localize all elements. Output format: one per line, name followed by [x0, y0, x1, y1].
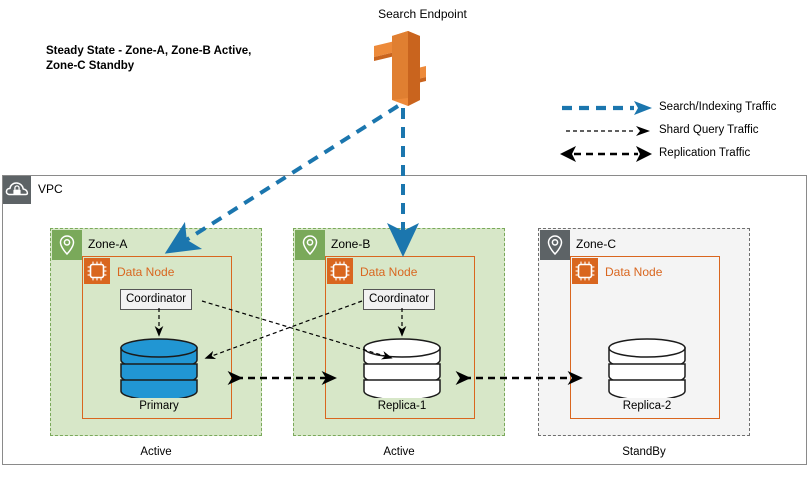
zone-a-location-pin-icon: [52, 230, 82, 260]
diagram-title: Steady State - Zone-A, Zone-B Active, Zo…: [46, 44, 346, 74]
zone-c-database-label: Replica-2: [587, 400, 707, 412]
zone-a-name: Zone-A: [88, 237, 127, 251]
zone-c-data-node-label: Data Node: [605, 265, 662, 279]
zone-b-location-pin-icon: [295, 230, 325, 260]
legend-swatch-replication-icon: [560, 143, 656, 166]
legend-swatch-shard-query-icon: [560, 120, 656, 143]
legend-label-shard-query: Shard Query Traffic: [659, 124, 759, 136]
zone-a-database-primary-icon: [116, 336, 202, 398]
search-endpoint-icon: [370, 28, 432, 108]
zone-a-chip-icon: [84, 258, 110, 284]
legend-item-shard-query: Shard Query Traffic: [560, 120, 810, 143]
zone-c-location-pin-icon: [540, 230, 570, 260]
zone-b-database-label: Replica-1: [342, 400, 462, 412]
zone-a-database-label: Primary: [99, 400, 219, 412]
zone-b-coordinator-box: Coordinator: [363, 289, 435, 310]
zone-c-status-label: StandBy: [538, 446, 750, 458]
legend-swatch-search-indexing-icon: [560, 97, 656, 120]
zone-b-chip-icon: [327, 258, 353, 284]
search-endpoint-label: Search Endpoint: [330, 7, 515, 21]
diagram-title-line1: Steady State - Zone-A, Zone-B Active,: [46, 44, 346, 59]
zone-a-data-node-label: Data Node: [117, 265, 174, 279]
zone-b-name: Zone-B: [331, 237, 370, 251]
zone-c-database-replica2-icon: [604, 336, 690, 398]
zone-b-database-replica1-icon: [359, 336, 445, 398]
diagram-title-line2: Zone-C Standby: [46, 59, 346, 74]
legend: Search/Indexing Traffic Shard Query Traf…: [560, 97, 810, 166]
zone-b-status-label: Active: [293, 446, 505, 458]
zone-a-status-label: Active: [50, 446, 262, 458]
vpc-label: VPC: [38, 182, 63, 196]
legend-item-search-indexing: Search/Indexing Traffic: [560, 97, 810, 120]
zone-c-name: Zone-C: [576, 237, 616, 251]
legend-item-replication: Replication Traffic: [560, 143, 810, 166]
diagram-canvas: Steady State - Zone-A, Zone-B Active, Zo…: [0, 0, 811, 501]
zone-c-chip-icon: [572, 258, 598, 284]
zone-b-data-node-label: Data Node: [360, 265, 417, 279]
legend-label-replication: Replication Traffic: [659, 147, 750, 159]
legend-label-search-indexing: Search/Indexing Traffic: [659, 101, 776, 113]
zone-a-coordinator-box: Coordinator: [120, 289, 192, 310]
vpc-cloud-lock-icon: [3, 176, 31, 204]
